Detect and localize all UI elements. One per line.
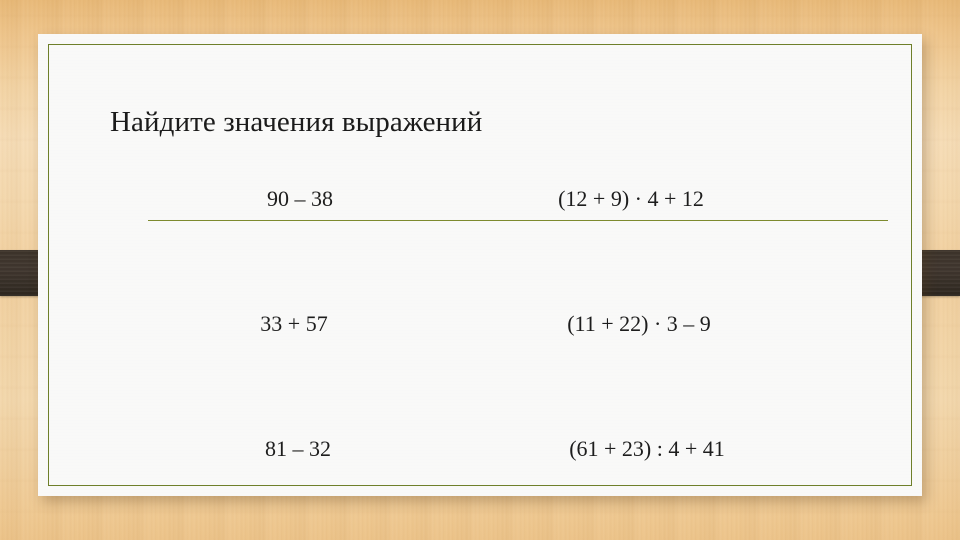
expression-cell-left: 33 + 57 bbox=[148, 311, 440, 337]
expression-cell-left: 81 – 32 bbox=[148, 436, 444, 462]
expression-row: 33 + 57 (11 + 22) · 3 – 9 bbox=[148, 311, 888, 436]
slide: Найдите значения выражений 90 – 38 (12 +… bbox=[0, 0, 960, 540]
expression-cell-right: (12 + 9) · 4 + 12 bbox=[446, 186, 816, 212]
slide-content: Найдите значения выражений 90 – 38 (12 +… bbox=[38, 34, 922, 496]
slide-card: Найдите значения выражений 90 – 38 (12 +… bbox=[38, 34, 922, 496]
expression-table: 90 – 38 (12 + 9) · 4 + 12 33 + 57 (11 + … bbox=[148, 186, 888, 540]
horizontal-rule bbox=[148, 220, 888, 221]
expression-cell-right: (11 + 22) · 3 – 9 bbox=[440, 311, 824, 337]
expression-row: 90 – 38 (12 + 9) · 4 + 12 bbox=[148, 186, 888, 311]
expression-cell-right: (61 + 23) : 4 + 41 bbox=[444, 436, 832, 462]
expression-row: 81 – 32 (61 + 23) : 4 + 41 bbox=[148, 436, 888, 540]
slide-title: Найдите значения выражений bbox=[110, 106, 482, 139]
expression-cell-left: 90 – 38 bbox=[148, 186, 446, 212]
